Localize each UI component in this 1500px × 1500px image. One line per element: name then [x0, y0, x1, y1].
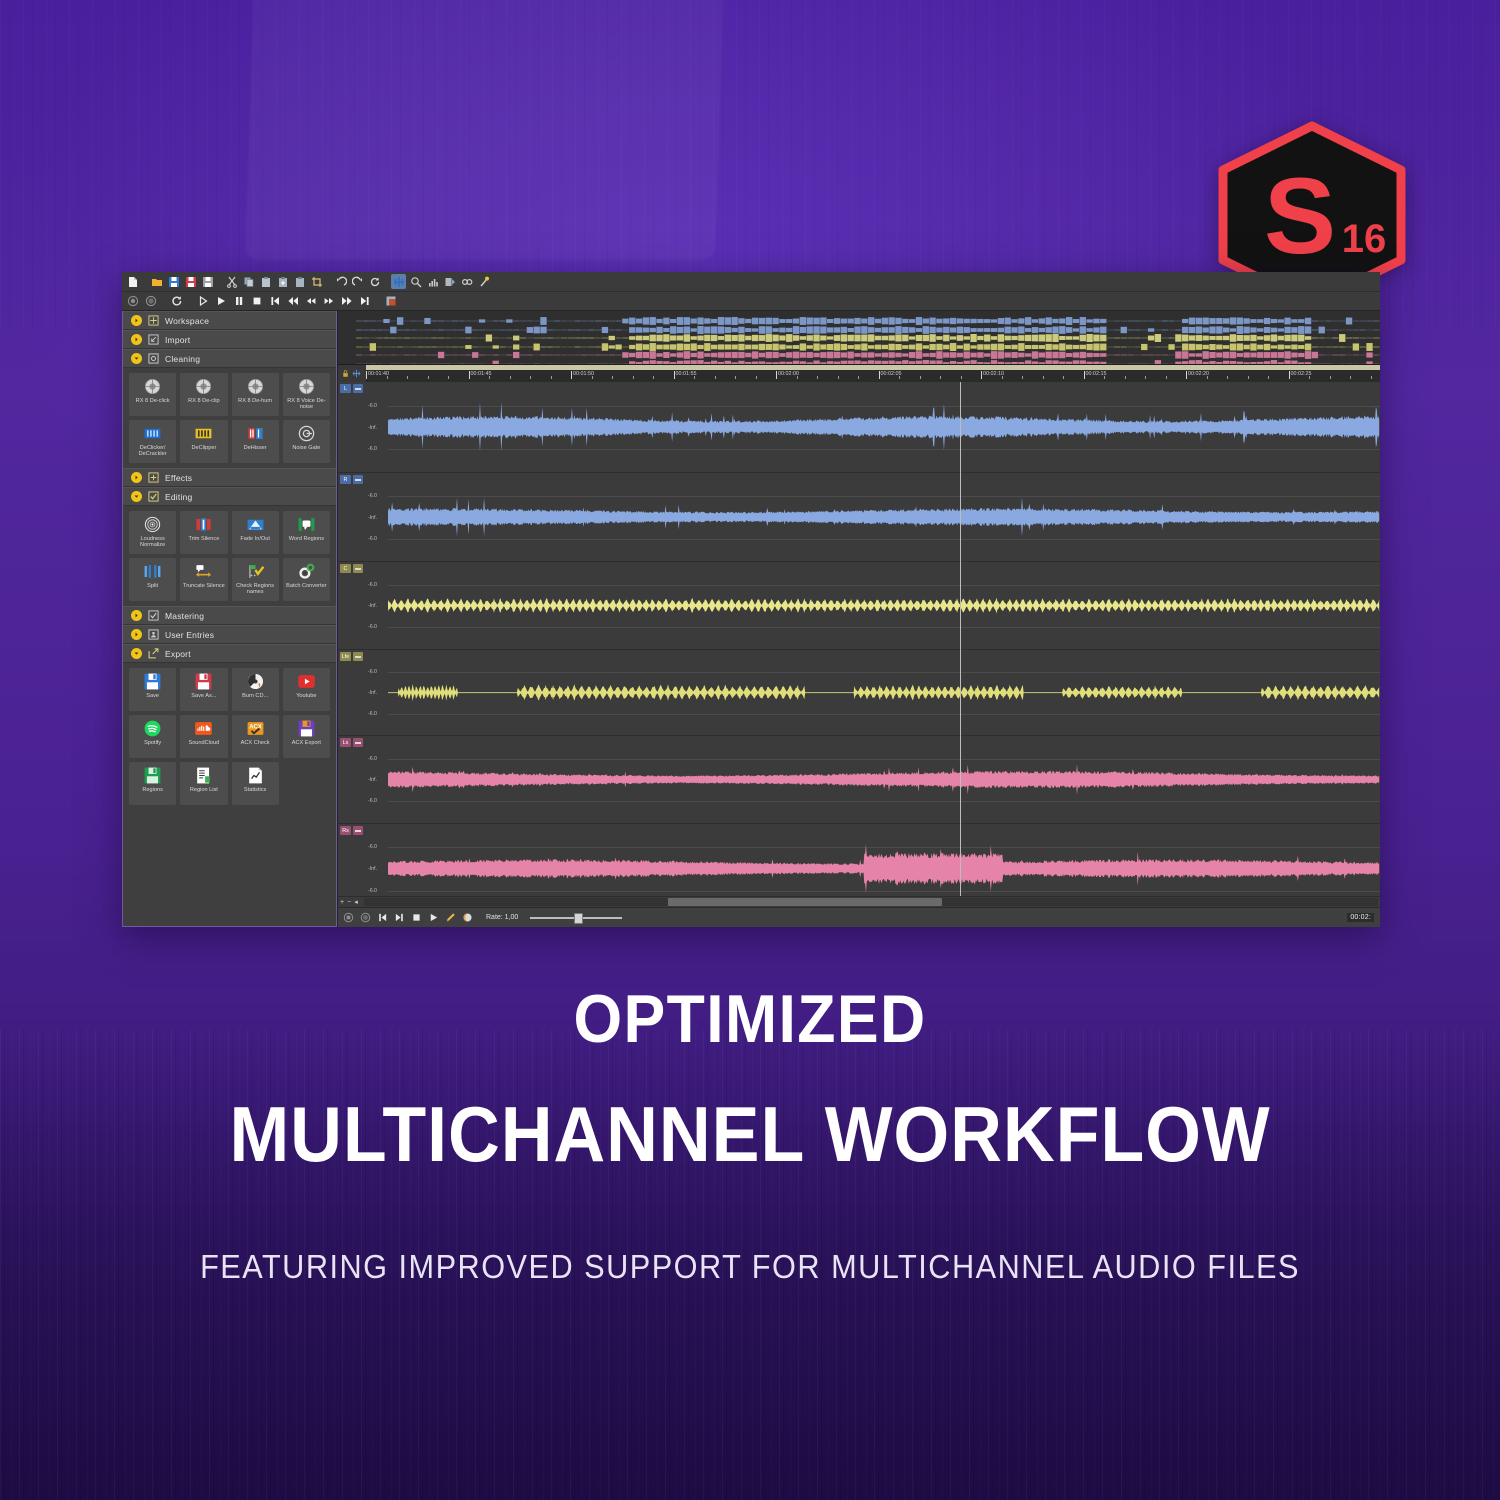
overview-lane-rs — [356, 355, 1380, 363]
marker-icon[interactable] — [476, 274, 491, 289]
tool-button-statistics[interactable]: Statistics — [232, 762, 279, 805]
sidebar-section-user-entries[interactable]: User Entries — [123, 625, 336, 644]
ruler-minor-tick — [510, 376, 511, 379]
tool-button-save[interactable]: Save — [129, 668, 176, 711]
chevron-down-icon[interactable] — [131, 648, 142, 659]
declipper-icon — [194, 424, 213, 443]
sidebar-sections: WorkspaceImportCleaningRX 8 De-clickRX 8… — [122, 311, 337, 927]
track-waveform-area[interactable]: -6.0-Inf.-6.0 — [366, 382, 1380, 472]
tool-button-truncate-silence[interactable]: Truncate Silence — [180, 558, 227, 601]
overview-lane-c — [356, 329, 1380, 337]
timecode-display: 00:02: — [1347, 913, 1374, 922]
sidebar-tool-grid-editing: Loudness NormalizeTrim SilenceFade In/Ou… — [123, 506, 336, 606]
crop-icon[interactable] — [309, 274, 324, 289]
save-icon — [143, 672, 162, 691]
mastering-icon — [148, 610, 159, 621]
tool-label: Fade In/Out — [239, 536, 271, 542]
multichannel-view-icon[interactable] — [391, 274, 406, 289]
track-gutter: Lfe — [338, 650, 366, 735]
sidebar-section-label: Cleaning — [165, 354, 200, 364]
chevron-right-icon[interactable] — [131, 334, 142, 345]
paste-special-icon[interactable] — [275, 274, 290, 289]
ruler-minor-tick — [1268, 376, 1269, 379]
ruler-minor-tick — [633, 376, 634, 379]
mute-button-c[interactable] — [353, 564, 363, 573]
sidebar-section-mastering[interactable]: Mastering — [123, 606, 336, 625]
channel-label-c[interactable]: C — [340, 564, 351, 573]
acx-export-icon — [297, 719, 316, 738]
rx-knob-icon — [246, 377, 265, 396]
status-transport-bar: Rate: 1,00 00:02: — [338, 907, 1380, 927]
sidebar-section-label: Import — [165, 335, 190, 345]
waveform-graphic — [388, 650, 1380, 735]
tool-label: Burn CD... — [241, 693, 269, 699]
tool-label: DeClipper — [190, 445, 217, 451]
cut-icon[interactable] — [224, 274, 239, 289]
audio-editor-window: WorkspaceImportCleaningRX 8 De-clickRX 8… — [122, 272, 1380, 927]
ruler-minor-tick — [612, 376, 613, 379]
fast-forward-icon[interactable] — [321, 294, 336, 309]
track-waveform-area[interactable]: -6.0-Inf.-6.0 — [366, 473, 1380, 561]
ruler-minor-tick — [899, 376, 900, 379]
marketing-headline: OPTIMIZED MULTICHANNEL WORKFLOW — [0, 985, 1500, 1173]
ruler-minor-tick — [920, 376, 921, 379]
overview-gutter — [338, 311, 356, 364]
tool-label: Statistics — [243, 787, 267, 793]
lock-icon — [341, 369, 350, 378]
sidebar-section-workspace[interactable]: Workspace — [123, 311, 336, 330]
slider-knob[interactable] — [574, 913, 583, 924]
tool-button-region-list[interactable]: Region List — [180, 762, 227, 805]
rx-knob-icon — [297, 377, 316, 396]
go-to-start-button[interactable] — [376, 911, 389, 924]
rewind-icon[interactable] — [303, 294, 318, 309]
track-list[interactable]: L-6.0-Inf.-6.0R-6.0-Inf.-6.0C-6.0-Inf.-6… — [338, 382, 1380, 896]
check-regions-icon — [246, 562, 265, 581]
tool-button-save-as[interactable]: Save As... — [180, 668, 227, 711]
ruler-minor-tick — [1063, 376, 1064, 379]
amplitude-label: -6.0 — [368, 756, 377, 762]
amplitude-label: -6.0 — [368, 669, 377, 675]
tool-label: Split — [146, 583, 159, 589]
ruler-minor-tick — [592, 376, 593, 379]
channel-label-ls[interactable]: Ls — [340, 738, 351, 747]
headline-line-2: MULTICHANNEL WORKFLOW — [60, 1095, 1440, 1173]
tool-label: Regions — [141, 787, 164, 793]
ruler-gutter — [338, 365, 366, 382]
amplitude-label: -6.0 — [368, 536, 377, 542]
mute-button-r[interactable] — [353, 475, 363, 484]
word-regions-icon — [297, 515, 316, 534]
tool-button-acx-check[interactable]: ACXACX Check — [232, 715, 279, 758]
sidebar-section-cleaning[interactable]: Cleaning — [123, 349, 336, 368]
tool-button-spotify[interactable]: Spotify — [129, 715, 176, 758]
tool-label: Region List — [189, 787, 219, 793]
background-shape — [245, 0, 725, 260]
track-gutter: Rs — [338, 824, 366, 896]
regions-icon — [143, 766, 162, 785]
sidebar-section-label: Mastering — [165, 611, 204, 621]
waveform-graphic — [388, 382, 1380, 472]
ruler-major-tick — [879, 371, 880, 379]
track-waveform-area[interactable]: -6.0-Inf.-6.0 — [366, 824, 1380, 896]
overview-lane-ls — [356, 346, 1380, 354]
workspace-icon — [148, 315, 159, 326]
ruler-minor-tick — [1227, 376, 1228, 379]
fade-icon — [246, 515, 265, 534]
tool-button-split[interactable]: Split — [129, 558, 176, 601]
declicker-icon — [143, 424, 162, 443]
file-overview-strip[interactable] — [338, 311, 1380, 365]
ruler-major-tick — [1186, 371, 1187, 379]
tool-button-burn-cd[interactable]: Burn CD... — [232, 668, 279, 711]
tools-sidebar: WorkspaceImportCleaningRX 8 De-clickRX 8… — [122, 311, 338, 927]
tool-button-youtube[interactable]: Youtube — [283, 668, 330, 711]
track-waveform-area[interactable]: -6.0-Inf.-6.0 — [366, 736, 1380, 823]
ruler-minor-tick — [448, 376, 449, 379]
amplitude-label: -Inf. — [368, 777, 377, 783]
headline-line-1: OPTIMIZED — [60, 985, 1440, 1053]
ruler-minor-tick — [428, 376, 429, 379]
rx-knob-icon — [143, 377, 162, 396]
ruler-minor-tick — [1145, 376, 1146, 379]
tool-label: Youtube — [295, 693, 317, 699]
ruler-minor-tick — [940, 376, 941, 379]
region-icon[interactable] — [442, 274, 457, 289]
play-button[interactable] — [427, 911, 440, 924]
track-gutter: L — [338, 382, 366, 472]
soundcloud-icon — [194, 719, 213, 738]
record-button[interactable] — [359, 911, 372, 924]
sidebar-tool-grid-export: SaveSave As...Burn CD...YoutubeSpotifySo… — [123, 663, 336, 810]
tool-button-dehisser[interactable]: DeHisser — [232, 420, 279, 463]
save-all-icon[interactable] — [200, 274, 215, 289]
loudness-icon — [143, 515, 162, 534]
paste-icon[interactable] — [258, 274, 273, 289]
effects-icon — [148, 472, 159, 483]
tool-button-rx-8-de-hum[interactable]: RX 8 De-hum — [232, 373, 279, 416]
tool-label: Spotify — [143, 740, 162, 746]
amplitude-label: -6.0 — [368, 446, 377, 452]
amplitude-label: -6.0 — [368, 888, 377, 894]
record-icon[interactable] — [143, 294, 158, 309]
mute-button-ls[interactable] — [353, 738, 363, 747]
play-selection-icon[interactable] — [195, 294, 210, 309]
tool-button-rx-8-de-clip[interactable]: RX 8 De-clip — [180, 373, 227, 416]
amplitude-label: -6.0 — [368, 582, 377, 588]
ruler-minor-tick — [817, 376, 818, 379]
logo-letter-s: S — [1264, 155, 1336, 276]
ruler-minor-tick — [735, 376, 736, 379]
record-arm-icon[interactable] — [125, 294, 140, 309]
sidebar-section-effects[interactable]: Effects — [123, 468, 336, 487]
go-to-end-icon[interactable] — [357, 294, 372, 309]
tool-button-trim-silence[interactable]: Trim Silence — [180, 511, 227, 554]
sidebar-tool-grid-cleaning: RX 8 De-clickRX 8 De-clipRX 8 De-humRX 8… — [123, 368, 336, 468]
tool-button-check-regions-names[interactable]: Check Regions names — [232, 558, 279, 601]
overview-lane-l — [356, 312, 1380, 320]
ruler-minor-tick — [1125, 376, 1126, 379]
stop-button[interactable] — [410, 911, 423, 924]
open-folder-icon[interactable] — [149, 274, 164, 289]
scroll-track[interactable] — [364, 898, 1378, 906]
amplitude-label: -Inf. — [368, 690, 377, 696]
marketing-subtitle: FEATURING IMPROVED SUPPORT FOR MULTICHAN… — [53, 1248, 1448, 1286]
tool-label: Batch Converter — [285, 583, 327, 589]
chevron-right-icon[interactable] — [131, 629, 142, 640]
waveform-graphic — [388, 473, 1380, 561]
amplitude-label: -6.0 — [368, 798, 377, 804]
go-to-start-icon[interactable] — [267, 294, 282, 309]
new-file-icon[interactable] — [125, 274, 140, 289]
region-list-icon — [194, 766, 213, 785]
tool-label: Check Regions names — [232, 583, 279, 596]
ruler-minor-tick — [756, 376, 757, 379]
scroll-thumb[interactable] — [668, 898, 942, 906]
save-as-icon[interactable] — [183, 274, 198, 289]
dehisser-icon — [246, 424, 265, 443]
ruler-minor-tick — [1330, 376, 1331, 379]
ruler-selection-strip[interactable] — [366, 365, 1380, 370]
ruler-minor-tick — [1104, 376, 1105, 379]
sidebar-section-label: Effects — [165, 473, 192, 483]
render-icon[interactable] — [383, 294, 398, 309]
ruler-minor-tick — [407, 376, 408, 379]
ruler-minor-tick — [715, 376, 716, 379]
copy-icon[interactable] — [241, 274, 256, 289]
tool-label: DeClicker/ DeCrackler — [129, 445, 176, 458]
ruler-minor-tick — [653, 376, 654, 379]
export-icon — [148, 648, 159, 659]
sidebar-section-label: Export — [165, 649, 191, 659]
sidebar-section-label: Workspace — [165, 316, 209, 326]
tool-label: Word Regions — [288, 536, 325, 542]
ruler-major-tick — [1289, 371, 1290, 379]
user-entries-icon — [148, 629, 159, 640]
pencil-tool-button[interactable] — [444, 911, 457, 924]
tool-label: RX 8 De-click — [135, 398, 171, 404]
tool-button-word-regions[interactable]: Word Regions — [283, 511, 330, 554]
channel-label-rs[interactable]: Rs — [340, 826, 351, 835]
play-icon[interactable] — [213, 294, 228, 309]
ruler-minor-tick — [530, 376, 531, 379]
previous-marker-icon[interactable] — [285, 294, 300, 309]
ruler-minor-tick — [1002, 376, 1003, 379]
ruler-major-tick — [571, 371, 572, 379]
horizontal-scrollbar-row[interactable]: + − ◂ — [338, 896, 1380, 907]
track-row[interactable]: Ls-6.0-Inf.-6.0 — [338, 736, 1380, 824]
refresh-icon[interactable] — [367, 274, 382, 289]
track-row[interactable]: R-6.0-Inf.-6.0 — [338, 473, 1380, 562]
chevron-right-icon[interactable] — [131, 472, 142, 483]
transport-toolbar — [122, 292, 1380, 311]
ruler-minor-tick — [797, 376, 798, 379]
tool-label: Truncate Silence — [182, 583, 226, 589]
tool-label: RX 8 Voice De-noise — [283, 398, 330, 411]
channel-label-lfe[interactable]: Lfe — [340, 652, 351, 661]
waveform-editor: 00:01:4000:01:4500:01:5000:01:5500:02:00… — [338, 311, 1380, 927]
zoom-out-icon[interactable]: − — [347, 899, 351, 906]
mute-button-l[interactable] — [353, 384, 363, 393]
overview-waveforms[interactable] — [356, 311, 1380, 364]
tool-label: DeHisser — [243, 445, 268, 451]
tool-label: Trim Silence — [187, 536, 220, 542]
sidebar-section-export[interactable]: Export — [123, 644, 336, 663]
tool-button-rx-8-voice-de-noise[interactable]: RX 8 Voice De-noise — [283, 373, 330, 416]
tool-button-batch-converter[interactable]: Batch Converter — [283, 558, 330, 601]
sidebar-section-editing[interactable]: Editing — [123, 487, 336, 506]
tool-button-rx-8-de-click[interactable]: RX 8 De-click — [129, 373, 176, 416]
ruler-minor-tick — [489, 376, 490, 379]
playback-rate-slider[interactable] — [530, 912, 622, 924]
amplitude-label: -6.0 — [368, 493, 377, 499]
import-icon — [148, 334, 159, 345]
tool-button-noise-gate[interactable]: Noise Gate — [283, 420, 330, 463]
logo-version-16: 16 — [1342, 217, 1387, 261]
ruler-minor-tick — [1207, 376, 1208, 379]
ruler-major-tick — [469, 371, 470, 379]
undo-icon[interactable] — [333, 274, 348, 289]
ruler-minor-tick — [858, 376, 859, 379]
tool-button-fade-in-out[interactable]: Fade In/Out — [232, 511, 279, 554]
amplitude-label: -6.0 — [368, 844, 377, 850]
save-as-icon — [194, 672, 213, 691]
tool-label: ACX Check — [240, 740, 271, 746]
waveform-graphic — [388, 736, 1380, 823]
tool-label: Save As... — [190, 693, 217, 699]
ruler-major-tick — [981, 371, 982, 379]
sidebar-section-label: Editing — [165, 492, 192, 502]
track-waveform-area[interactable]: -6.0-Inf.-6.0 — [366, 650, 1380, 735]
duplicate-icon[interactable] — [292, 274, 307, 289]
track-waveform-area[interactable]: -6.0-Inf.-6.0 — [366, 562, 1380, 649]
ruler-minor-tick — [1043, 376, 1044, 379]
amplitude-label: -6.0 — [368, 624, 377, 630]
ruler-minor-tick — [838, 376, 839, 379]
ruler-major-tick — [1084, 371, 1085, 379]
timeline-ruler[interactable]: 00:01:4000:01:4500:01:5000:01:5500:02:00… — [366, 365, 1380, 382]
statistics-icon — [246, 766, 265, 785]
split-icon — [143, 562, 162, 581]
tool-button-regions[interactable]: Regions — [129, 762, 176, 805]
truncate-silence-icon — [194, 562, 213, 581]
chevron-right-icon[interactable] — [131, 315, 142, 326]
tool-button-declicker-decrackler[interactable]: DeClicker/ DeCrackler — [129, 420, 176, 463]
night-mode-button[interactable] — [461, 911, 474, 924]
ruler-minor-tick — [1022, 376, 1023, 379]
tool-label: Loudness Normalize — [129, 536, 176, 549]
zoom-in-icon[interactable]: + — [340, 899, 344, 906]
amplitude-label: -Inf. — [368, 866, 377, 872]
track-row[interactable]: C-6.0-Inf.-6.0 — [338, 562, 1380, 650]
zoom-selection-icon[interactable] — [408, 274, 423, 289]
tool-label: SoundCloud — [187, 740, 220, 746]
ruler-minor-tick — [551, 376, 552, 379]
ruler-minor-tick — [1166, 376, 1167, 379]
acx-check-icon: ACX — [246, 719, 265, 738]
tool-button-soundcloud[interactable]: SoundCloud — [180, 715, 227, 758]
sidebar-section-label: User Entries — [165, 630, 214, 640]
rx-knob-icon — [194, 377, 213, 396]
mute-button-rs[interactable] — [353, 826, 363, 835]
timeline-ruler-row: 00:01:4000:01:4500:01:5000:01:5500:02:00… — [338, 365, 1380, 382]
tool-button-declipper[interactable]: DeClipper — [180, 420, 227, 463]
channel-link-icon — [352, 369, 361, 378]
ruler-minor-tick — [1248, 376, 1249, 379]
track-gutter: Ls — [338, 736, 366, 823]
mute-button-lfe[interactable] — [353, 652, 363, 661]
ruler-major-tick — [366, 371, 367, 379]
playhead-cursor[interactable] — [960, 382, 961, 896]
tool-label: RX 8 De-hum — [237, 398, 273, 404]
ruler-major-tick — [674, 371, 675, 379]
ruler-minor-tick — [1350, 376, 1351, 379]
amplitude-label: -6.0 — [368, 711, 377, 717]
go-to-end-button[interactable] — [393, 911, 406, 924]
waveform-graphic — [388, 824, 1380, 896]
channel-label-l[interactable]: L — [340, 384, 351, 393]
tool-button-loudness-normalize[interactable]: Loudness Normalize — [129, 511, 176, 554]
ruler-minor-tick — [694, 376, 695, 379]
trim-silence-icon — [194, 515, 213, 534]
track-gutter: R — [338, 473, 366, 561]
tool-label: ACX Export — [291, 740, 322, 746]
playback-rate-label: Rate: 1,00 — [486, 914, 518, 921]
ruler-minor-tick — [1371, 376, 1372, 379]
scroll-left-icon[interactable]: ◂ — [354, 899, 358, 906]
waveform-graphic — [388, 562, 1380, 649]
overview-lane-r — [356, 321, 1380, 329]
redo-icon[interactable] — [350, 274, 365, 289]
spectrum-icon[interactable] — [425, 274, 440, 289]
spotify-icon — [143, 719, 162, 738]
ruler-minor-tick — [387, 376, 388, 379]
record-arm-button[interactable] — [342, 911, 355, 924]
next-marker-icon[interactable] — [339, 294, 354, 309]
tool-label: Save — [145, 693, 160, 699]
sidebar-section-import[interactable]: Import — [123, 330, 336, 349]
svg-text:ACX: ACX — [249, 725, 262, 731]
chevron-down-icon[interactable] — [131, 353, 142, 364]
burn-cd-icon — [246, 672, 265, 691]
ruler-major-tick — [776, 371, 777, 379]
tool-label: Noise Gate — [291, 445, 321, 451]
chevron-right-icon[interactable] — [131, 610, 142, 621]
overview-lane-lfe — [356, 338, 1380, 346]
youtube-icon — [297, 672, 316, 691]
amplitude-label: -Inf. — [368, 515, 377, 521]
loop-icon[interactable] — [169, 294, 184, 309]
chevron-down-icon[interactable] — [131, 491, 142, 502]
tool-button-acx-export[interactable]: ACX Export — [283, 715, 330, 758]
link-icon[interactable] — [459, 274, 474, 289]
editing-icon — [148, 491, 159, 502]
amplitude-label: -Inf. — [368, 603, 377, 609]
tool-label: RX 8 De-clip — [187, 398, 220, 404]
track-row[interactable]: Rs-6.0-Inf.-6.0 — [338, 824, 1380, 896]
save-icon[interactable] — [166, 274, 181, 289]
amplitude-label: -Inf. — [368, 425, 377, 431]
track-row[interactable]: L-6.0-Inf.-6.0 — [338, 382, 1380, 473]
ruler-minor-tick — [961, 376, 962, 379]
track-row[interactable]: Lfe-6.0-Inf.-6.0 — [338, 650, 1380, 736]
amplitude-label: -6.0 — [368, 403, 377, 409]
ruler-minor-tick — [1309, 376, 1310, 379]
pause-icon[interactable] — [231, 294, 246, 309]
stop-icon[interactable] — [249, 294, 264, 309]
channel-label-r[interactable]: R — [340, 475, 351, 484]
main-toolbar — [122, 272, 1380, 292]
